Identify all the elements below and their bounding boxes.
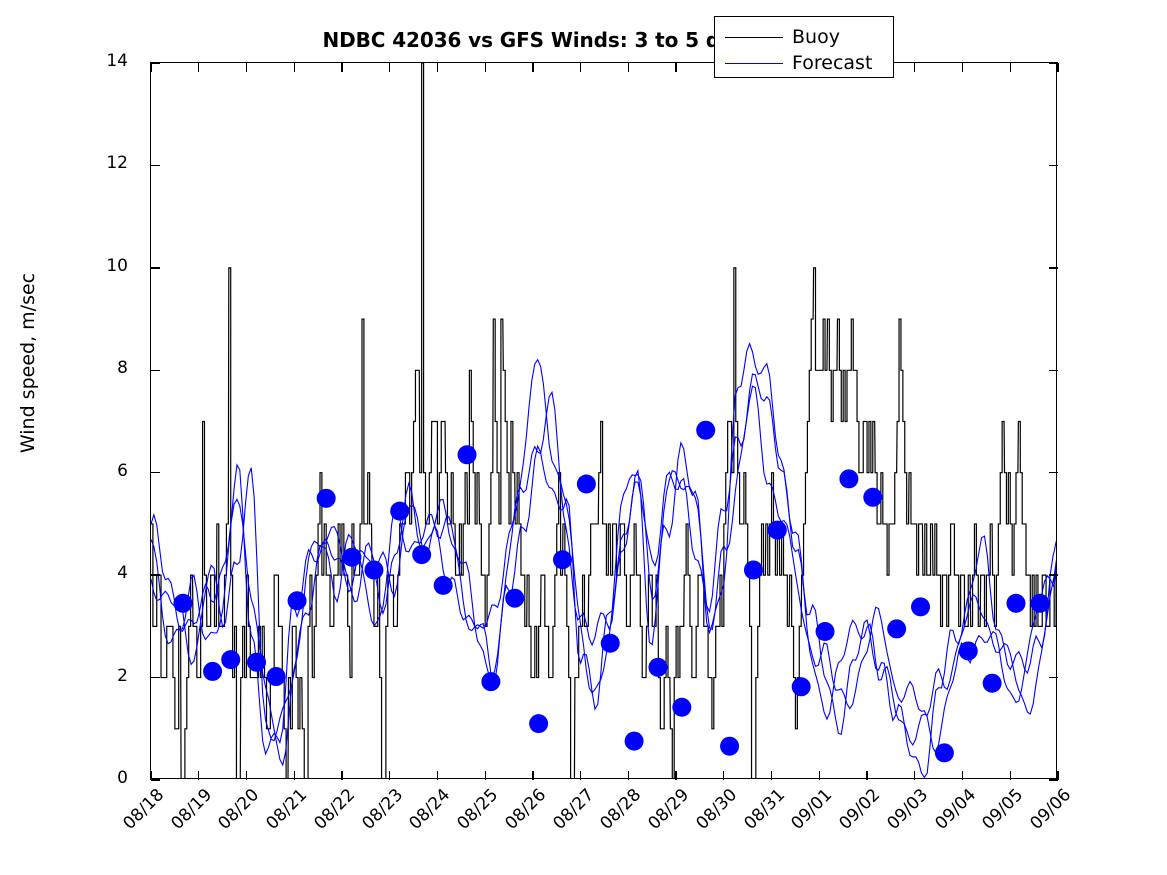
x-tick-mark (437, 771, 438, 780)
chart-legend: Buoy Forecast (714, 16, 894, 78)
x-tick-label: 08/27 (544, 785, 598, 839)
x-tick-label: 08/19 (162, 785, 216, 839)
x-tick-mark (198, 63, 199, 72)
x-tick-label: 08/28 (592, 785, 646, 839)
x-tick-mark (580, 771, 581, 780)
x-tick-mark (628, 771, 629, 780)
chart-title: NDBC 42036 vs GFS Winds: 3 to 5 day fore… (0, 28, 1167, 52)
x-tick-mark (962, 771, 963, 780)
x-tick-mark (1010, 771, 1011, 780)
legend-label-forecast: Forecast (792, 54, 872, 73)
y-tick-label: 8 (18, 358, 128, 378)
x-tick-label: 08/24 (401, 785, 455, 839)
x-tick-label: 08/26 (496, 785, 550, 839)
x-tick-mark (914, 63, 915, 72)
x-tick-mark (532, 771, 533, 780)
x-tick-mark (437, 63, 438, 72)
legend-item-forecast: Forecast (725, 50, 883, 76)
y-tick-label: 10 (18, 256, 128, 276)
y-tick-label: 14 (18, 51, 128, 71)
legend-swatch-buoy-line (725, 37, 783, 38)
x-tick-label: 08/29 (639, 785, 693, 839)
x-tick-marks (151, 63, 1058, 780)
y-axis-tick-labels: 02468101214 (0, 0, 150, 875)
x-tick-mark (485, 771, 486, 780)
x-tick-mark (866, 771, 867, 780)
x-tick-mark (389, 771, 390, 780)
x-tick-mark (675, 63, 676, 72)
x-tick-mark (341, 771, 342, 780)
x-tick-mark (246, 771, 247, 780)
legend-label-buoy: Buoy (792, 28, 840, 47)
x-tick-mark (1010, 63, 1011, 72)
chart-figure: NDBC 42036 vs GFS Winds: 3 to 5 day fore… (0, 0, 1167, 875)
x-tick-mark (150, 63, 151, 72)
x-tick-label: 08/25 (449, 785, 503, 839)
x-tick-mark (389, 63, 390, 72)
x-tick-mark (675, 771, 676, 780)
x-tick-mark (580, 63, 581, 72)
legend-item-buoy: Buoy (725, 24, 883, 50)
y-tick-label: 4 (18, 563, 128, 583)
x-tick-label: 09/04 (926, 785, 980, 839)
y-tick-label: 6 (18, 461, 128, 481)
legend-swatch-forecast-line (725, 63, 783, 64)
x-tick-mark (819, 771, 820, 780)
x-tick-label: 08/21 (258, 785, 312, 839)
x-tick-mark (246, 63, 247, 72)
x-tick-label: 08/20 (210, 785, 264, 839)
x-tick-label: 09/03 (878, 785, 932, 839)
x-tick-label: 08/30 (687, 785, 741, 839)
x-tick-mark (628, 63, 629, 72)
x-tick-mark (294, 63, 295, 72)
x-tick-label: 09/02 (830, 785, 884, 839)
y-tick-label: 0 (18, 768, 128, 788)
x-tick-label: 08/23 (353, 785, 407, 839)
x-tick-mark (723, 771, 724, 780)
x-tick-label: 09/05 (974, 785, 1028, 839)
y-tick-label: 2 (18, 666, 128, 686)
x-tick-mark (198, 771, 199, 780)
x-tick-mark (962, 63, 963, 72)
x-tick-mark (485, 63, 486, 72)
x-tick-mark (771, 771, 772, 780)
x-tick-mark (341, 63, 342, 72)
x-tick-mark (1057, 63, 1058, 72)
y-tick-label: 12 (18, 153, 128, 173)
x-tick-mark (294, 771, 295, 780)
x-tick-label: 09/06 (1021, 785, 1075, 839)
x-axis-tick-labels: 08/1808/1908/2008/2108/2208/2308/2408/25… (150, 779, 1057, 875)
x-tick-mark (914, 771, 915, 780)
x-tick-mark (150, 771, 151, 780)
x-tick-mark (532, 63, 533, 72)
plot-area (150, 62, 1057, 779)
x-tick-label: 09/01 (783, 785, 837, 839)
x-tick-label: 08/31 (735, 785, 789, 839)
x-tick-label: 08/22 (305, 785, 359, 839)
x-tick-mark (1057, 771, 1058, 780)
